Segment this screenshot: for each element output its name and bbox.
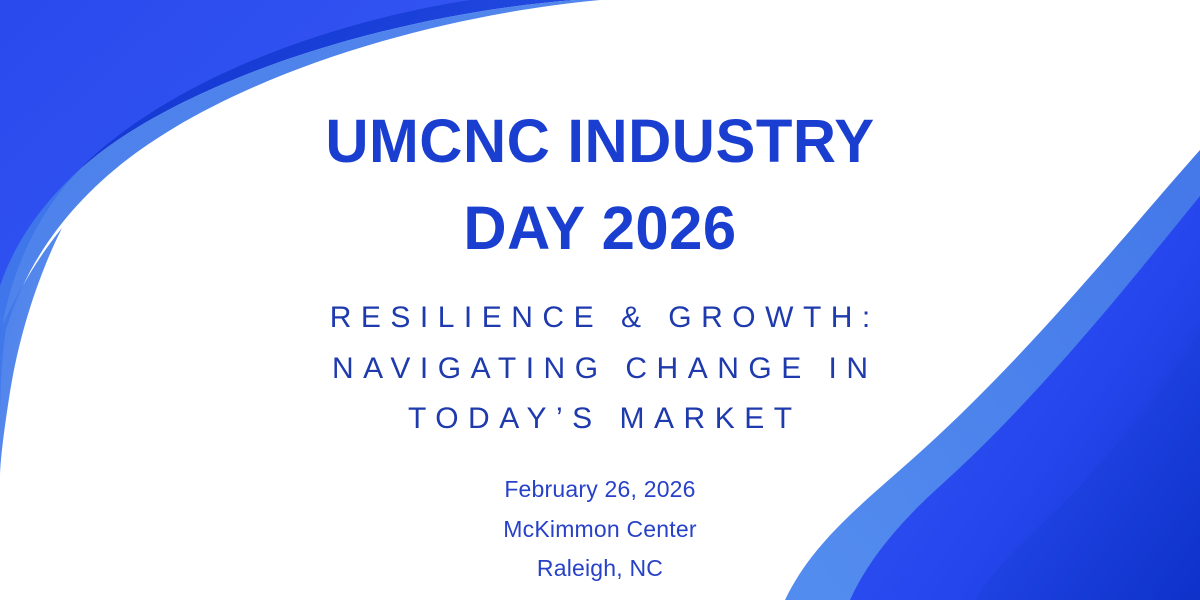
event-details: February 26, 2026 McKimmon Center Raleig… [300,470,900,589]
event-subtitle: RESILIENCE & GROWTH: NAVIGATING CHANGE I… [200,293,1000,444]
event-location: Raleigh, NC [300,549,900,589]
title-line-2: DAY 2026 [228,185,973,272]
event-venue: McKimmon Center [300,510,900,550]
subtitle-line-3: TODAY’S MARKET [200,394,1000,444]
subtitle-line-2: NAVIGATING CHANGE IN [200,344,1000,394]
subtitle-line-1: RESILIENCE & GROWTH: [200,293,1000,343]
event-title: UMCNC INDUSTRY DAY 2026 [220,98,980,271]
title-line-1: UMCNC INDUSTRY [228,98,973,185]
poster-canvas: UMCNC INDUSTRY DAY 2026 RESILIENCE & GRO… [0,0,1200,600]
event-date: February 26, 2026 [300,470,900,510]
poster-content: UMCNC INDUSTRY DAY 2026 RESILIENCE & GRO… [0,0,1200,600]
